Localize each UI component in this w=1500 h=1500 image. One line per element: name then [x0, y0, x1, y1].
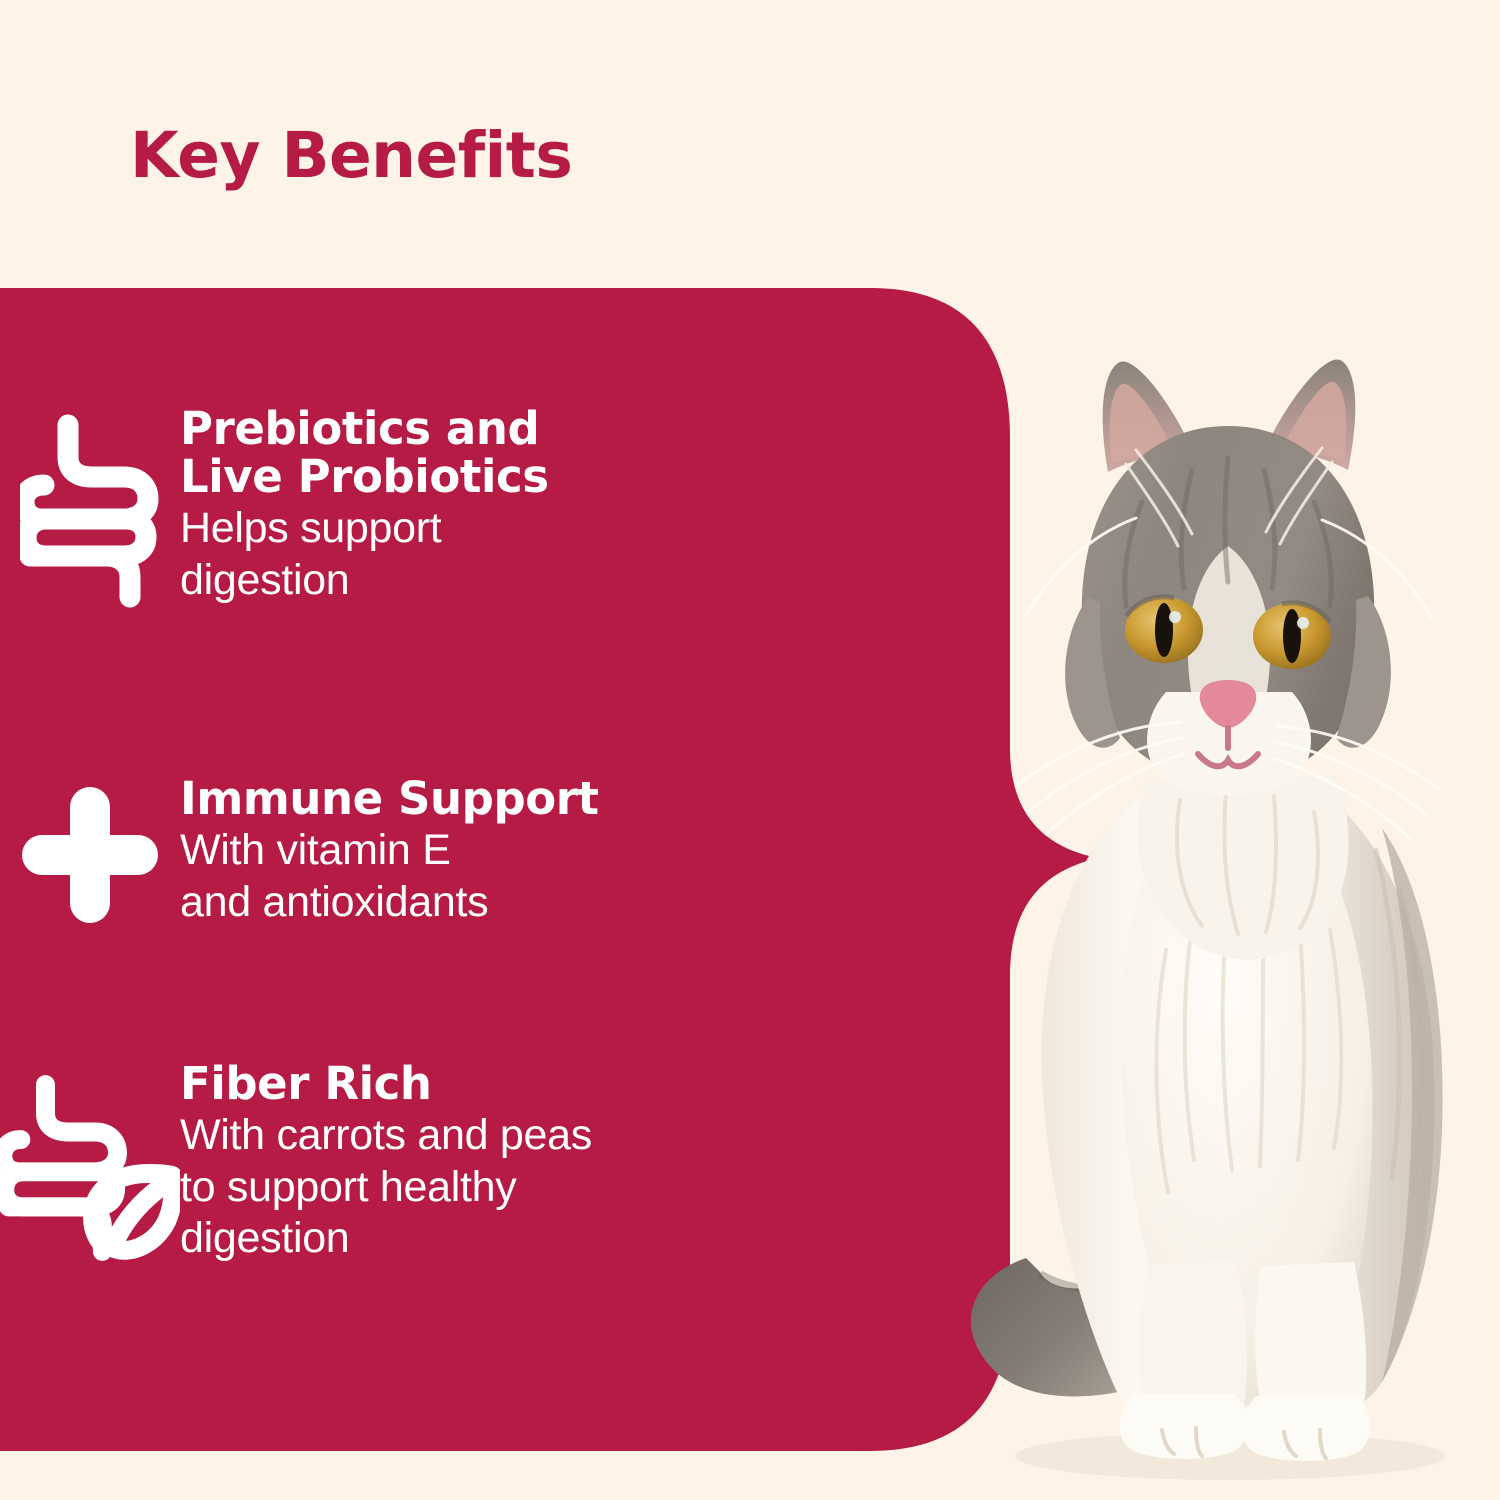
benefit-text-block: Immune Support With vitamin E and antiox…: [180, 775, 1000, 928]
plus-icon: [0, 775, 180, 925]
benefit-title: Prebiotics and Live Probiotics: [180, 405, 1000, 501]
benefit-description: With carrots and peas to support healthy…: [180, 1110, 1000, 1265]
benefit-item-immune-support: Immune Support With vitamin E and antiox…: [0, 775, 1000, 928]
benefit-text-block: Prebiotics and Live Probiotics Helps sup…: [180, 405, 1000, 606]
intestine-icon: [0, 405, 180, 609]
page-title: Key Benefits: [130, 124, 572, 187]
cat-paw-right: [1241, 1396, 1370, 1461]
benefit-title: Immune Support: [180, 775, 1000, 823]
cat-photo: [930, 330, 1500, 1500]
infographic-canvas: Key Benefits Prebiotics and Live Prob: [0, 0, 1500, 1500]
benefit-text-block: Fiber Rich With carrots and peas to supp…: [180, 1060, 1000, 1265]
benefit-item-fiber-rich: Fiber Rich With carrots and peas to supp…: [0, 1060, 1000, 1268]
benefit-description: With vitamin E and antioxidants: [180, 825, 1000, 928]
benefit-title: Fiber Rich: [180, 1060, 1000, 1108]
benefit-description: Helps support digestion: [180, 503, 1000, 606]
cat-paw-left: [1119, 1394, 1248, 1459]
intestine-leaf-icon: [0, 1060, 180, 1268]
benefit-item-prebiotics: Prebiotics and Live Probiotics Helps sup…: [0, 405, 1000, 609]
